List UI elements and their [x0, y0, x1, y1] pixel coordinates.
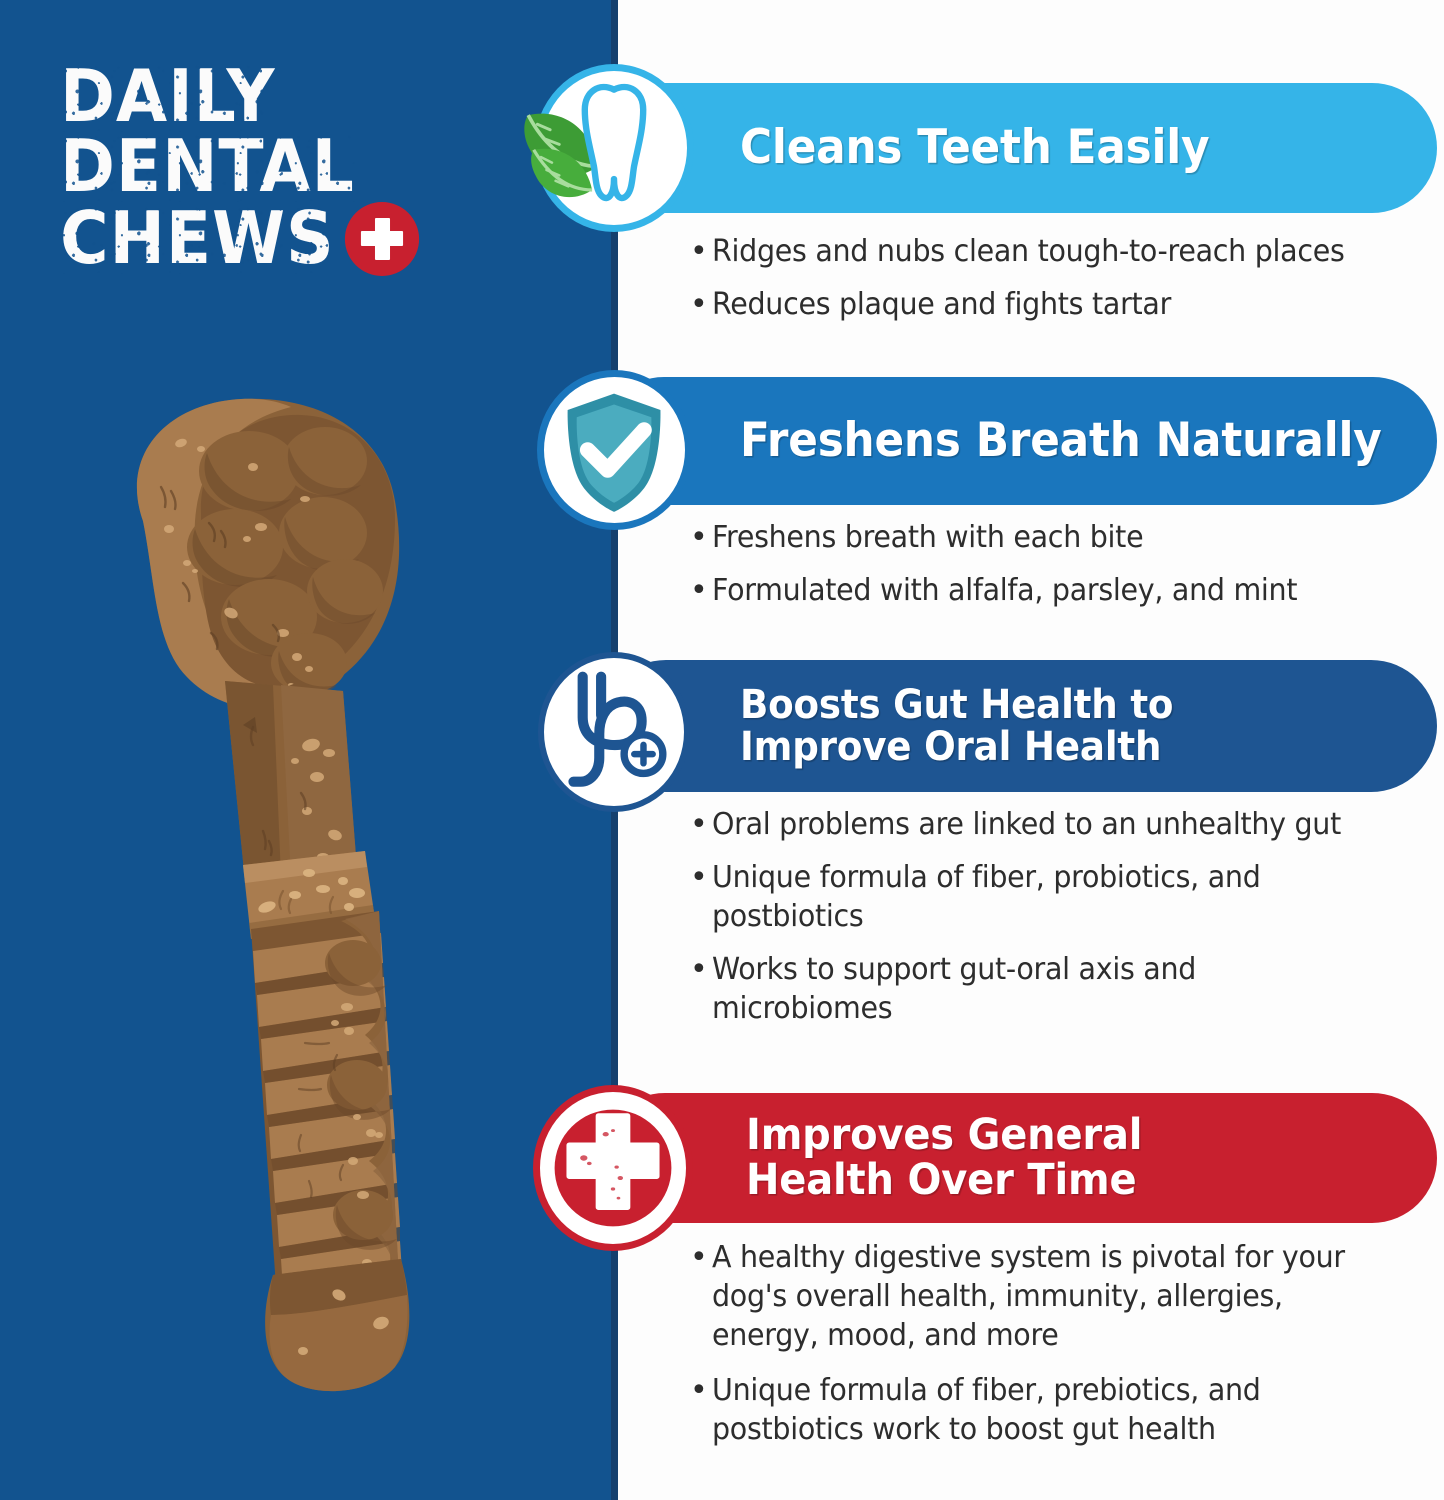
bullet-text: Works to support gut-oral axis and micro…: [712, 950, 1292, 1028]
list-item: • Oral problems are linked to an unhealt…: [690, 805, 1430, 844]
bullet-marker: •: [690, 571, 712, 610]
title-line-3: CHEWS: [60, 202, 557, 276]
feature-heading-line-1: Improves General: [746, 1113, 1142, 1158]
feature-banner-improves-general-health: Improves General Health Over Time: [600, 1093, 1437, 1223]
bullet-marker: •: [690, 805, 712, 844]
feature-heading: Freshens Breath Naturally: [740, 416, 1382, 465]
feature-heading-line-2: Health Over Time: [746, 1158, 1142, 1203]
bullet-marker: •: [690, 950, 712, 1028]
medical-cross-circle-icon: [533, 1085, 693, 1251]
feature-heading-line-2: Improve Oral Health: [740, 726, 1173, 768]
list-item: • Ridges and nubs clean tough-to-reach p…: [690, 232, 1430, 271]
feature-bullets-freshens-breath: • Freshens breath with each bite • Formu…: [690, 518, 1430, 610]
list-item: • Unique formula of fiber, probiotics, a…: [690, 858, 1430, 936]
feature-bullets-boosts-gut-health: • Oral problems are linked to an unhealt…: [690, 805, 1430, 1028]
list-item: • Works to support gut-oral axis and mic…: [690, 950, 1430, 1028]
list-item: • A healthy digestive system is pivotal …: [690, 1238, 1430, 1355]
bullet-marker: •: [690, 285, 712, 324]
bullet-marker: •: [690, 1371, 712, 1449]
feature-banner-freshens-breath: Freshens Breath Naturally: [600, 377, 1437, 505]
bullet-marker: •: [690, 858, 712, 936]
feature-banner-cleans-teeth: Cleans Teeth Easily: [600, 83, 1437, 213]
list-item: • Freshens breath with each bite: [690, 518, 1430, 557]
bullet-text: Reduces plaque and fights tartar: [712, 285, 1171, 324]
feature-bullets-improves-general-health: • A healthy digestive system is pivotal …: [690, 1238, 1430, 1449]
bullet-text: Formulated with alfalfa, parsley, and mi…: [712, 571, 1297, 610]
bullet-marker: •: [690, 232, 712, 271]
medical-cross-icon: [344, 202, 418, 276]
title-line-3-text: CHEWS: [60, 204, 335, 274]
bullet-marker: •: [690, 518, 712, 557]
feature-bullets-cleans-teeth: • Ridges and nubs clean tough-to-reach p…: [690, 232, 1430, 324]
title-line-2: DENTAL: [60, 132, 557, 202]
bullet-text: Unique formula of fiber, prebiotics, and…: [712, 1371, 1358, 1449]
list-item: • Formulated with alfalfa, parsley, and …: [690, 571, 1430, 610]
infographic-page: DAILY DENTAL CHEWS: [0, 0, 1444, 1500]
feature-heading-line-1: Boosts Gut Health to: [740, 684, 1173, 726]
feature-heading: Cleans Teeth Easily: [740, 123, 1209, 172]
bullet-marker: •: [690, 1238, 712, 1355]
stomach-plus-icon: [538, 652, 690, 812]
list-item: • Reduces plaque and fights tartar: [690, 285, 1430, 324]
feature-heading-group: Improves General Health Over Time: [746, 1113, 1172, 1203]
bullet-text: Ridges and nubs clean tough-to-reach pla…: [712, 232, 1345, 271]
page-title: DAILY DENTAL CHEWS: [60, 62, 600, 276]
feature-banner-boosts-gut-health: Boosts Gut Health to Improve Oral Health: [600, 660, 1437, 792]
shield-checkmark-icon: [537, 370, 692, 530]
bullet-text: Oral problems are linked to an unhealthy…: [712, 805, 1341, 844]
feature-heading-group: Boosts Gut Health to Improve Oral Health: [740, 684, 1206, 768]
title-line-1-text: DAILY: [60, 62, 275, 132]
bullet-text: Unique formula of fiber, probiotics, and…: [712, 858, 1349, 936]
list-item: • Unique formula of fiber, prebiotics, a…: [690, 1371, 1430, 1449]
title-line-2-text: DENTAL: [60, 132, 355, 202]
bullet-text: Freshens breath with each bite: [712, 518, 1143, 557]
cross-bar-vertical: [374, 218, 389, 260]
bullet-text: A healthy digestive system is pivotal fo…: [712, 1238, 1358, 1355]
title-line-1: DAILY: [60, 62, 557, 132]
